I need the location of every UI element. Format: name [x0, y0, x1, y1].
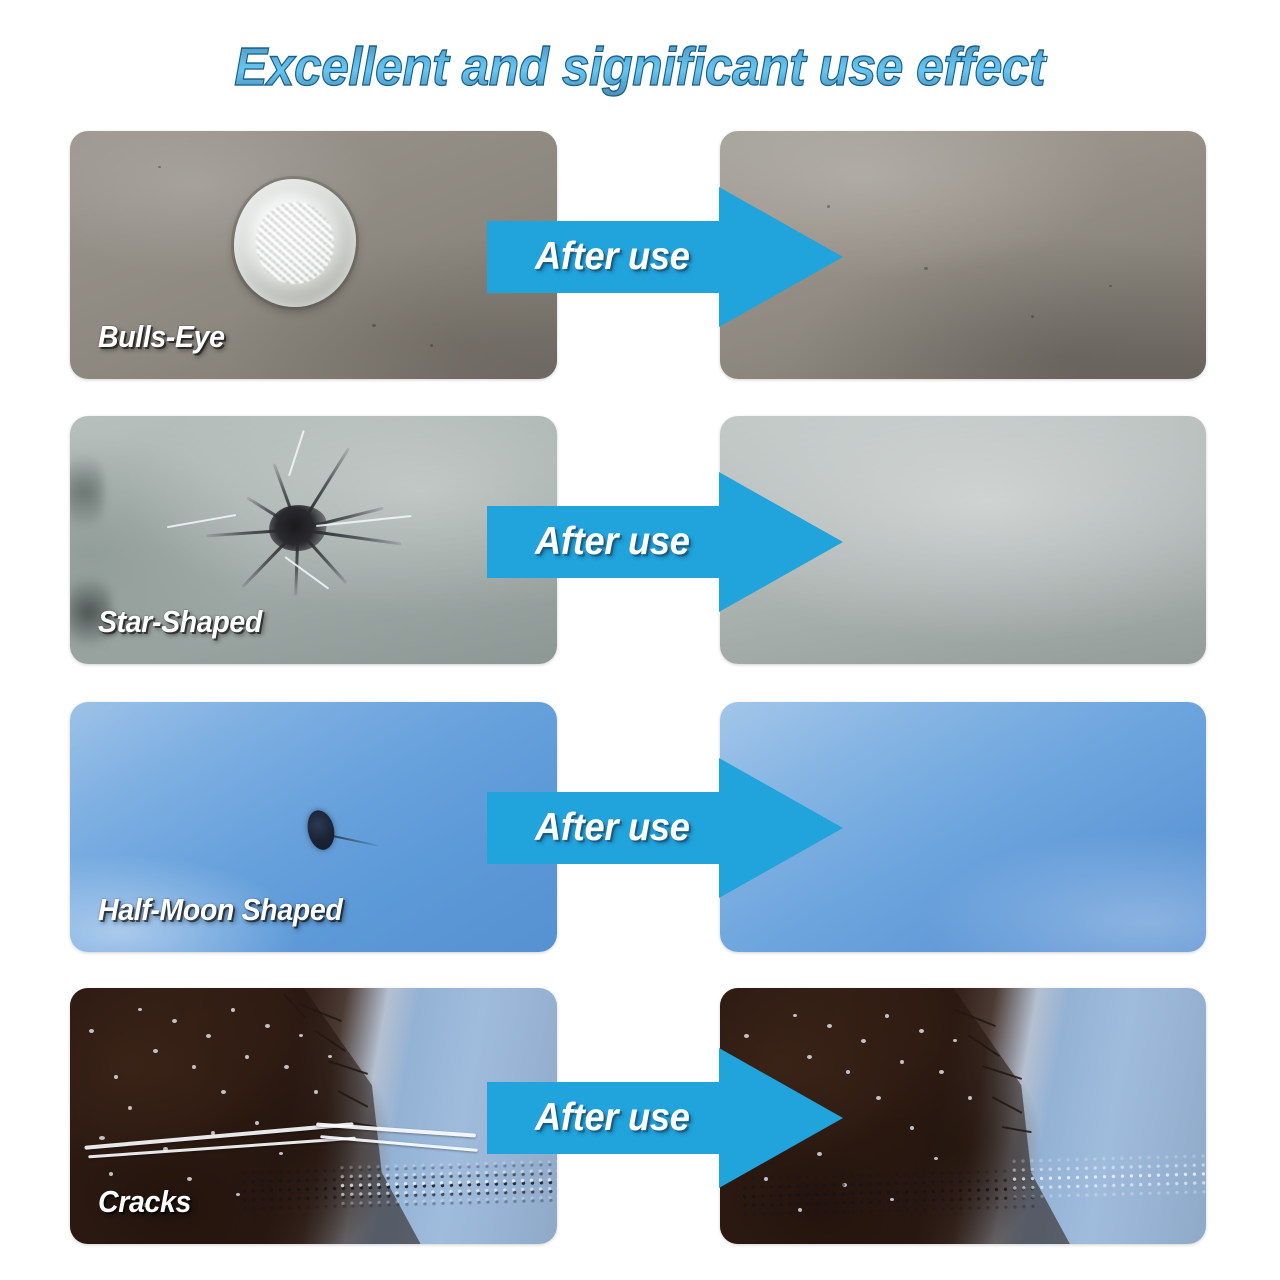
damage-label-cracks: Cracks [98, 1184, 191, 1220]
before-panel-bulls-eye: Bulls-Eye [70, 131, 557, 379]
before-panel-half-moon: Half-Moon Shaped [70, 702, 557, 952]
comparison-row-half-moon: Half-Moon Shaped After use [0, 702, 1280, 952]
after-use-arrow-bulls-eye: After use [487, 183, 843, 331]
damage-label-star-shaped: Star-Shaped [98, 604, 262, 640]
comparison-row-star-shaped: Star-Shaped After use [0, 416, 1280, 664]
after-use-arrow-half-moon: After use [487, 754, 843, 902]
before-panel-star-shaped: Star-Shaped [70, 416, 557, 664]
damage-label-half-moon: Half-Moon Shaped [98, 892, 342, 928]
page-title: Excellent and significant use effect [235, 36, 1046, 98]
star-crack-damage-icon [188, 458, 408, 598]
damage-label-bulls-eye: Bulls-Eye [98, 319, 225, 355]
right-arrow-icon [487, 1044, 843, 1192]
after-use-arrow-star-shaped: After use [487, 468, 843, 616]
windshield-frit-band-light [1009, 1151, 1206, 1203]
after-use-arrow-cracks: After use [487, 1044, 843, 1192]
right-arrow-icon [487, 754, 843, 902]
right-arrow-icon [487, 183, 843, 331]
bullseye-damage-icon [234, 179, 356, 307]
title-bar: Excellent and significant use effect [0, 36, 1280, 98]
comparison-row-bulls-eye: Bulls-Eye After use [0, 131, 1280, 379]
right-arrow-icon [487, 468, 843, 616]
comparison-row-cracks: Cracks [0, 988, 1280, 1244]
before-panel-cracks: Cracks [70, 988, 557, 1244]
